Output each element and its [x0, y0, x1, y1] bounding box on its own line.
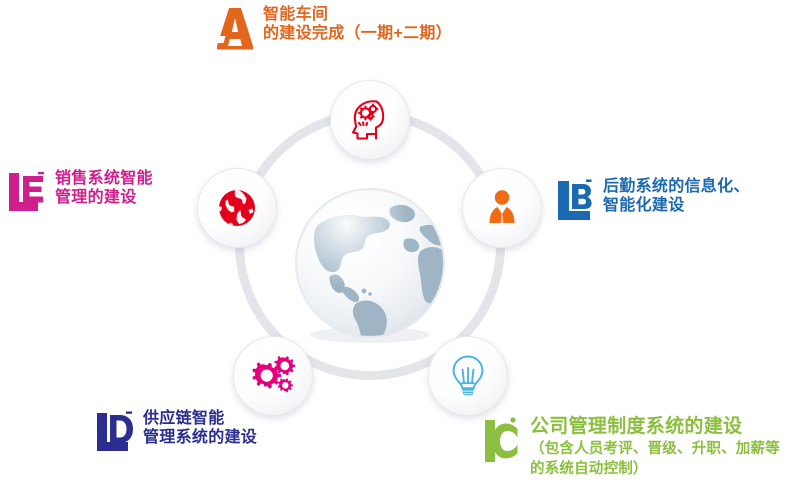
- infographic-canvas: 智能车间 的建设完成（一期+二期） 后勤系统的信息化、 智能化建设: [0, 0, 800, 493]
- label-a[interactable]: 智能车间 的建设完成（一期+二期）: [216, 6, 452, 50]
- node-lightbulb[interactable]: [428, 336, 508, 416]
- badge-letter-a: [216, 6, 254, 50]
- gears-icon: [250, 355, 296, 397]
- node-businessperson[interactable]: [462, 168, 542, 248]
- label-d[interactable]: 供应链智能 管理系统的建设: [96, 410, 257, 454]
- badge-letter-e: [8, 170, 46, 214]
- label-c-subtext: （包含人员考评、晋级、升职、加薪等 的系统自动控制）: [530, 440, 780, 479]
- label-e[interactable]: 销售系统智能 管理的建设: [8, 170, 153, 214]
- node-gears[interactable]: [233, 336, 313, 416]
- lightbulb-icon: [447, 353, 489, 399]
- earth-globe-icon: [215, 186, 259, 230]
- businessperson-icon: [481, 187, 523, 229]
- head-gears-icon: [346, 96, 394, 144]
- label-d-text: 供应链智能 管理系统的建设: [143, 410, 257, 448]
- badge-letter-d: [96, 410, 134, 454]
- node-earth[interactable]: [197, 168, 277, 248]
- label-c-text: 公司管理制度系统的建设: [530, 416, 780, 438]
- label-b-text: 后勤系统的信息化、 智能化建设: [603, 178, 750, 216]
- label-c[interactable]: 公司管理制度系统的建设 （包含人员考评、晋级、升职、加薪等 的系统自动控制）: [483, 416, 780, 480]
- label-b[interactable]: 后勤系统的信息化、 智能化建设: [556, 178, 750, 222]
- badge-letter-b: [556, 178, 594, 222]
- badge-letter-c: [483, 416, 521, 460]
- label-e-text: 销售系统智能 管理的建设: [55, 170, 153, 208]
- node-head-gears[interactable]: [330, 80, 410, 160]
- center-globe: [288, 183, 452, 347]
- label-a-text: 智能车间 的建设完成（一期+二期）: [263, 6, 452, 44]
